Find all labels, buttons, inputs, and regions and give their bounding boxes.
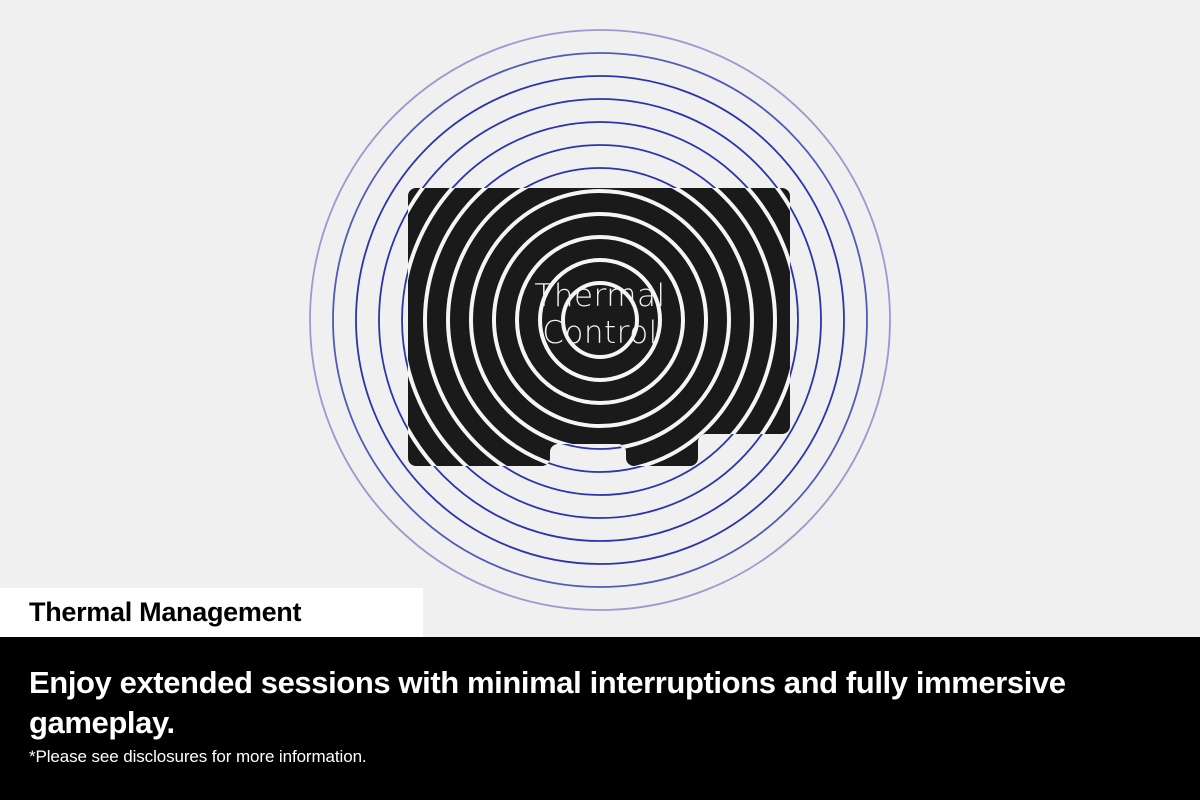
section-label-title: Thermal Management — [29, 597, 301, 628]
headline-text: Enjoy extended sessions with minimal int… — [29, 663, 1179, 743]
bottom-band: Enjoy extended sessions with minimal int… — [0, 637, 1200, 800]
disclaimer-text: *Please see disclosures for more informa… — [29, 747, 367, 767]
promo-slide: Thermal Control Thermal Management Enjoy… — [0, 0, 1200, 800]
section-label: Thermal Management — [0, 588, 423, 637]
